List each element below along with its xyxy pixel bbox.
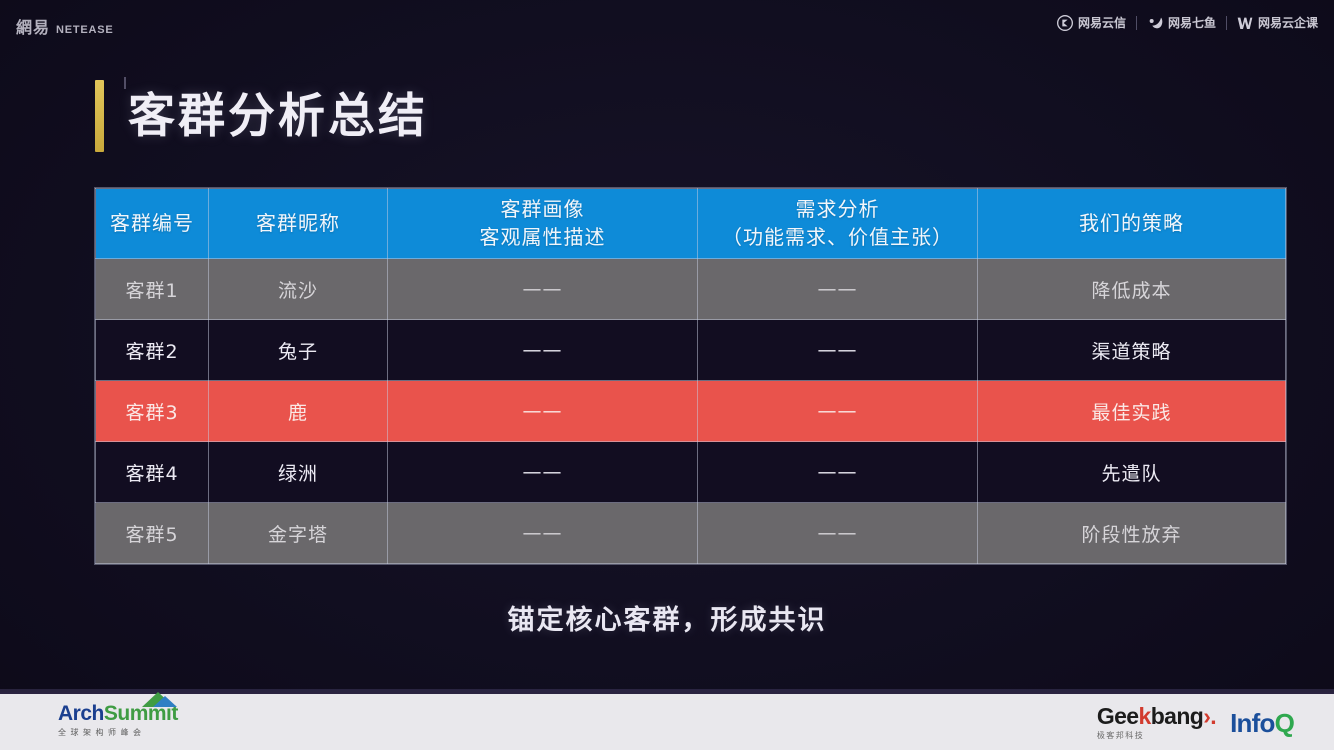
title-tick-mark: [124, 77, 126, 89]
geekbang-wordmark: Geekbang›.: [1097, 705, 1216, 728]
brand-yunqike-label: 网易云企课: [1258, 14, 1318, 31]
geekbang-part1: Gee: [1097, 703, 1139, 729]
slide-caption: 锚定核心客群，形成共识: [0, 598, 1334, 637]
cell-demand: ——: [698, 442, 978, 503]
archsummit-logo: ArchSummit 全球架构师峰会: [58, 703, 178, 738]
col-header-strategy-line1: 我们的策略: [1079, 211, 1184, 235]
page-title-text: 客群分析总结: [128, 93, 428, 140]
qiyu-icon: [1147, 15, 1163, 31]
netease-logo-cn: 網易: [16, 14, 50, 38]
brand-divider: [1136, 16, 1137, 30]
table-row: 客群5金字塔————阶段性放弃: [96, 503, 1286, 564]
cell-segment-nickname: 金字塔: [209, 503, 388, 564]
table-row: 客群3鹿————最佳实践: [96, 381, 1286, 442]
cell-strategy: 最佳实践: [978, 381, 1286, 442]
cell-strategy: 先遣队: [978, 442, 1286, 503]
cell-segment-id: 客群3: [96, 381, 209, 442]
table-row: 客群2兔子————渠道策略: [96, 320, 1286, 381]
infoq-logo: InfoQ: [1230, 710, 1294, 736]
mountain-peak-inner-icon: [153, 696, 177, 707]
col-header-strategy: 我们的策略: [978, 189, 1286, 259]
geekbang-part2: bang: [1151, 703, 1204, 729]
cell-strategy: 阶段性放弃: [978, 503, 1286, 564]
cell-segment-id: 客群4: [96, 442, 209, 503]
table-row: 客群4绿洲————先遣队: [96, 442, 1286, 503]
top-bar: 網易 NetEase 网易云信 网易七鱼: [0, 0, 1334, 52]
col-header-portrait-line2: 客观属性描述: [394, 224, 691, 252]
cell-portrait: ——: [388, 442, 698, 503]
cell-segment-nickname: 流沙: [209, 259, 388, 320]
yunxin-icon: [1057, 15, 1073, 31]
cell-segment-id: 客群5: [96, 503, 209, 564]
page-title: 客群分析总结: [95, 80, 428, 152]
brand-divider: [1226, 16, 1227, 30]
slide-canvas: 網易 NetEase 网易云信 网易七鱼: [0, 0, 1334, 750]
archsummit-arch-text: Arch: [58, 702, 104, 725]
brand-yunxin: 网易云信: [1057, 14, 1126, 31]
geekbang-k: k: [1139, 703, 1151, 729]
infoq-info-text: Info: [1230, 708, 1274, 738]
netease-logo: 網易 NetEase: [16, 14, 114, 38]
col-header-portrait: 客群画像 客观属性描述: [388, 189, 698, 259]
footer-logo-group: Geekbang›. 极客邦科技 InfoQ: [1097, 705, 1294, 741]
archsummit-wordmark: ArchSummit: [58, 703, 178, 724]
archsummit-subtitle: 全球架构师峰会: [58, 727, 178, 738]
cell-portrait: ——: [388, 320, 698, 381]
cell-segment-nickname: 兔子: [209, 320, 388, 381]
col-header-demand: 需求分析 （功能需求、价值主张）: [698, 189, 978, 259]
cell-strategy: 降低成本: [978, 259, 1286, 320]
brand-yunqike: 网易云企课: [1237, 14, 1318, 31]
table-header: 客群编号 客群昵称 客群画像 客观属性描述 需求分析 （功能需求、价值主张） 我…: [96, 189, 1286, 259]
col-header-portrait-line1: 客群画像: [501, 197, 585, 221]
cell-segment-nickname: 绿洲: [209, 442, 388, 503]
cell-portrait: ——: [388, 381, 698, 442]
cell-segment-id: 客群2: [96, 320, 209, 381]
cell-segment-id: 客群1: [96, 259, 209, 320]
yunqike-icon: [1237, 15, 1253, 31]
title-accent-bar: [95, 80, 104, 152]
geekbang-subtitle: 极客邦科技: [1097, 730, 1216, 741]
col-header-segment-id-line1: 客群编号: [110, 211, 194, 235]
table-header-row: 客群编号 客群昵称 客群画像 客观属性描述 需求分析 （功能需求、价值主张） 我…: [96, 189, 1286, 259]
partner-brand-row: 网易云信 网易七鱼 网易云企课: [1057, 14, 1318, 31]
netease-logo-en: NetEase: [56, 24, 114, 36]
brand-yunxin-label: 网易云信: [1078, 14, 1126, 31]
infoq-q-text: Q: [1275, 708, 1294, 738]
col-header-demand-line2: （功能需求、价值主张）: [704, 224, 971, 252]
cell-demand: ——: [698, 503, 978, 564]
col-header-segment-nickname: 客群昵称: [209, 189, 388, 259]
cell-demand: ——: [698, 320, 978, 381]
geekbang-logo: Geekbang›. 极客邦科技: [1097, 705, 1216, 741]
cell-portrait: ——: [388, 503, 698, 564]
brand-qiyu: 网易七鱼: [1147, 14, 1216, 31]
col-header-demand-line1: 需求分析: [796, 197, 880, 221]
cell-demand: ——: [698, 381, 978, 442]
customer-segment-table: 客群编号 客群昵称 客群画像 客观属性描述 需求分析 （功能需求、价值主张） 我…: [95, 188, 1286, 564]
table-body: 客群1流沙————降低成本客群2兔子————渠道策略客群3鹿————最佳实践客群…: [96, 259, 1286, 564]
table-row: 客群1流沙————降低成本: [96, 259, 1286, 320]
col-header-segment-id: 客群编号: [96, 189, 209, 259]
geekbang-arrow-icon: ›.: [1203, 703, 1216, 729]
brand-qiyu-label: 网易七鱼: [1168, 14, 1216, 31]
cell-portrait: ——: [388, 259, 698, 320]
cell-demand: ——: [698, 259, 978, 320]
cell-strategy: 渠道策略: [978, 320, 1286, 381]
cell-segment-nickname: 鹿: [209, 381, 388, 442]
footer-bar: ArchSummit 全球架构师峰会 Geekbang›. 极客邦科技 Info…: [0, 692, 1334, 750]
col-header-segment-nickname-line1: 客群昵称: [256, 211, 340, 235]
